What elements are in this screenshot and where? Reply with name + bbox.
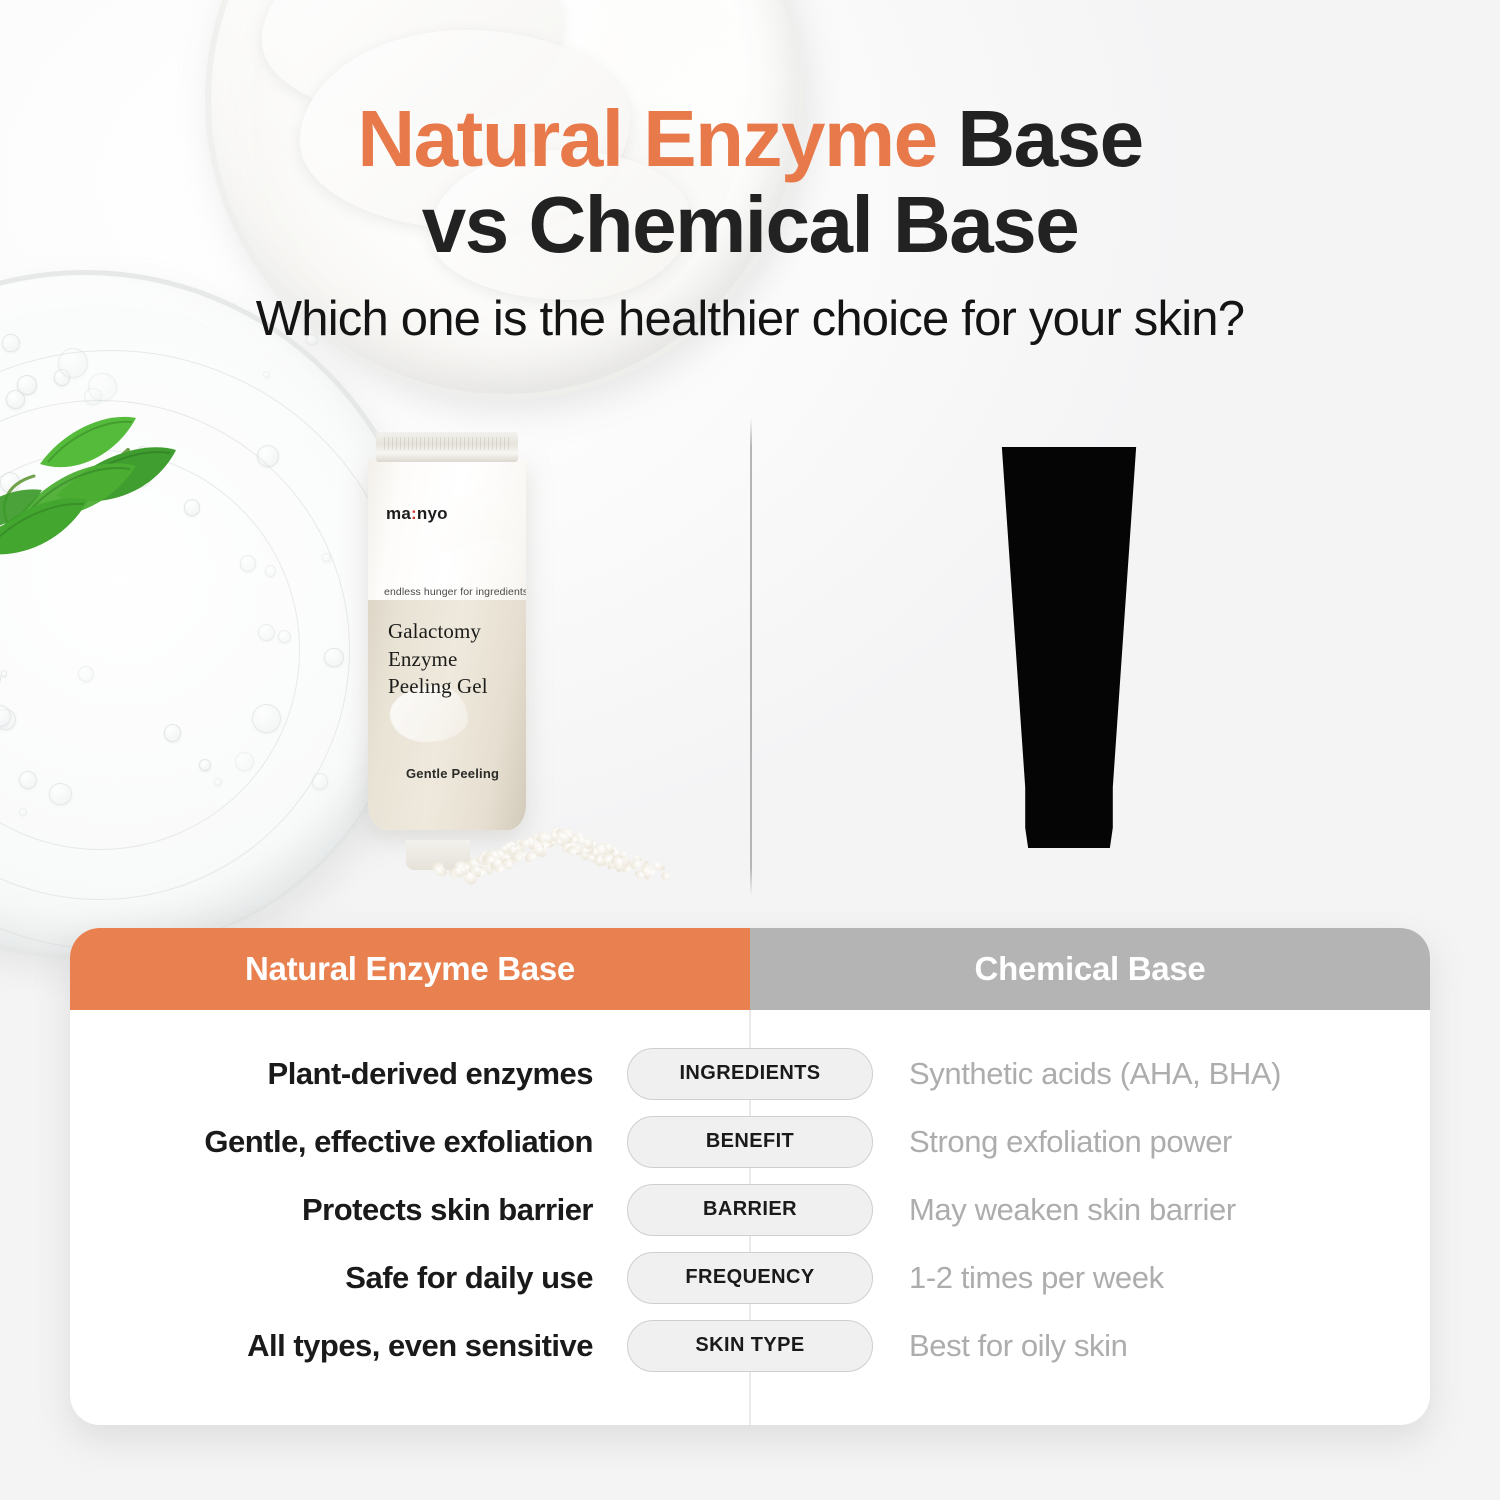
cream-streak-icon <box>452 540 522 580</box>
natural-value: All types, even sensitive <box>70 1328 615 1364</box>
gel-bubble-icon <box>184 499 201 516</box>
gel-bubble-icon <box>265 565 276 576</box>
headline-block: Natural Enzyme Base vs Chemical Base Whi… <box>0 96 1500 347</box>
attribute-pill-wrap: INGREDIENTS <box>615 1048 885 1100</box>
natural-value: Safe for daily use <box>70 1260 615 1296</box>
gel-bubble-icon <box>0 673 1 684</box>
chemical-value: 1-2 times per week <box>885 1260 1430 1296</box>
chemical-value: Synthetic acids (AHA, BHA) <box>885 1056 1430 1092</box>
chemical-value: Best for oily skin <box>885 1328 1430 1364</box>
gel-bubble-icon <box>17 375 37 395</box>
gel-bubble-icon <box>49 783 71 805</box>
gel-ripple-icon <box>0 350 410 950</box>
attribute-pill-wrap: BARRIER <box>615 1184 885 1236</box>
product-name-line-1: Galactomy <box>388 618 488 646</box>
gel-bubble-icon <box>78 666 94 682</box>
gel-bubble-icon <box>164 724 182 742</box>
black-tube-silhouette-icon <box>996 447 1142 852</box>
comparison-rows: Plant-derived enzymesINGREDIENTSSyntheti… <box>70 1040 1430 1379</box>
comparison-row: Safe for daily useFREQUENCY1-2 times per… <box>70 1244 1430 1311</box>
gel-bubble-icon <box>214 778 222 786</box>
rice-grains-group <box>458 804 688 874</box>
gel-bubble-icon <box>0 472 20 492</box>
header-natural-enzyme-base: Natural Enzyme Base <box>70 928 750 1010</box>
natural-value: Plant-derived enzymes <box>70 1056 615 1092</box>
gel-bubble-icon <box>312 773 329 790</box>
gel-ripple-icon <box>0 400 350 900</box>
gel-bubble-icon <box>88 373 116 401</box>
product-tagline: endless hunger for ingredients <box>384 586 526 598</box>
comparison-row: All types, even sensitiveSKIN TYPEBest f… <box>70 1312 1430 1379</box>
gel-bubble-icon <box>84 388 102 406</box>
comparison-body: Plant-derived enzymesINGREDIENTSSyntheti… <box>70 1010 1430 1425</box>
headline-line-2: vs Chemical Base <box>0 182 1500 268</box>
gel-bubble-icon <box>0 709 16 730</box>
gel-bubble-icon <box>128 464 152 488</box>
attribute-pill: FREQUENCY <box>627 1252 873 1304</box>
gel-bubble-icon <box>54 369 71 386</box>
comparison-row: Gentle, effective exfoliationBENEFITStro… <box>70 1108 1430 1175</box>
headline-subtitle: Which one is the healthier choice for yo… <box>0 291 1500 347</box>
natural-value: Gentle, effective exfoliation <box>70 1124 615 1160</box>
gel-bubble-icon <box>19 771 37 789</box>
gel-bubble-icon <box>66 487 76 497</box>
header-chemical-base: Chemical Base <box>750 928 1430 1010</box>
attribute-pill-wrap: SKIN TYPE <box>615 1320 885 1372</box>
gel-bubble-icon <box>258 624 275 641</box>
product-vertical-divider <box>750 418 752 896</box>
brand-post-text: nyo <box>417 504 448 523</box>
tube-cap <box>376 432 518 462</box>
natural-value: Protects skin barrier <box>70 1192 615 1228</box>
gel-ripple-icon <box>0 450 300 850</box>
attribute-pill: INGREDIENTS <box>627 1048 873 1100</box>
gel-bubble-icon <box>252 704 281 733</box>
gel-bubble-icon <box>263 371 270 378</box>
gel-bubble-icon <box>138 446 148 456</box>
gel-bubble-icon <box>1 670 7 676</box>
gel-bubble-icon <box>278 630 291 643</box>
tube-body: ma:nyo endless hunger for ingredients Ga… <box>368 458 526 830</box>
gel-bubble-icon <box>58 348 88 378</box>
gel-bubble-icon <box>6 390 25 409</box>
gel-bubble-icon <box>324 648 343 667</box>
product-image-chemical <box>996 447 1142 852</box>
gel-bubble-icon <box>235 752 254 771</box>
chemical-value: Strong exfoliation power <box>885 1124 1430 1160</box>
comparison-row: Protects skin barrierBARRIERMay weaken s… <box>70 1176 1430 1243</box>
chemical-value: May weaken skin barrier <box>885 1192 1430 1228</box>
gel-bubble-icon <box>0 705 11 727</box>
gel-bubble-icon <box>19 808 27 816</box>
brand-pre-text: ma <box>386 504 411 523</box>
attribute-pill-wrap: FREQUENCY <box>615 1252 885 1304</box>
gel-bubble-icon <box>257 445 279 467</box>
attribute-pill: BARRIER <box>627 1184 873 1236</box>
comparison-poster: Natural Enzyme Base vs Chemical Base Whi… <box>0 0 1500 1500</box>
comparison-row: Plant-derived enzymesINGREDIENTSSyntheti… <box>70 1040 1430 1107</box>
product-descriptor: Gentle Peeling <box>406 766 499 781</box>
product-name-line-3: Peeling Gel <box>388 673 488 701</box>
gel-bubble-icon <box>240 555 256 571</box>
rice-grain-icon <box>659 870 670 881</box>
headline-accent-text: Natural Enzyme <box>357 94 936 183</box>
comparison-card: Natural Enzyme Base Chemical Base Plant-… <box>70 928 1430 1425</box>
headline-line-1: Natural Enzyme Base <box>0 96 1500 182</box>
product-name: Galactomy Enzyme Peeling Gel <box>388 618 488 701</box>
gel-bubble-icon <box>199 759 211 771</box>
comparison-header-row: Natural Enzyme Base Chemical Base <box>70 928 1430 1010</box>
attribute-pill-wrap: BENEFIT <box>615 1116 885 1168</box>
product-brand-logo: ma:nyo <box>386 504 448 524</box>
attribute-pill: SKIN TYPE <box>627 1320 873 1372</box>
headline-rest-text: Base <box>937 94 1143 183</box>
gel-bubble-icon <box>322 553 331 562</box>
attribute-pill: BENEFIT <box>627 1116 873 1168</box>
product-image-natural: ma:nyo endless hunger for ingredients Ga… <box>362 432 534 852</box>
product-name-line-2: Enzyme <box>388 646 488 674</box>
